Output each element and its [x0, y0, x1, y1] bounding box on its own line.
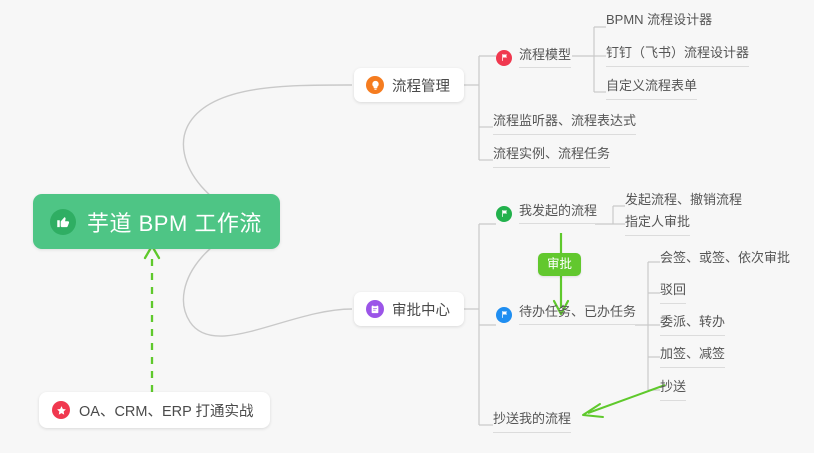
- arrow-cc-head: [583, 404, 603, 417]
- leaf-cc-to-me-process[interactable]: 抄送我的流程: [493, 411, 571, 433]
- leaf-assigned-approver[interactable]: 指定人审批: [625, 214, 690, 236]
- leaf-process-instance-task[interactable]: 流程实例、流程任务: [493, 146, 610, 168]
- arrow-cc-line: [588, 385, 665, 413]
- leaf-reject[interactable]: 驳回: [660, 282, 686, 304]
- node-todo-done-tasks[interactable]: 待办任务、已办任务: [496, 304, 636, 325]
- branch-node-process-management[interactable]: 流程管理: [354, 68, 464, 102]
- mindmap-canvas: 芋道 BPM 工作流 流程管理 流程模型 BPMN 流程设计器 钉钉（飞书）流程…: [0, 0, 814, 453]
- root-label: 芋道 BPM 工作流: [87, 206, 262, 238]
- node-todo-done-tasks-label: 待办任务、已办任务: [519, 304, 636, 325]
- branch-label-approval-center: 审批中心: [392, 299, 450, 320]
- leaf-process-listener-expression[interactable]: 流程监听器、流程表达式: [493, 113, 636, 135]
- callout-label-integration: OA、CRM、ERP 打通实战: [79, 400, 254, 421]
- flag-icon: [496, 206, 512, 222]
- leaf-countersign-orsign-sequential[interactable]: 会签、或签、依次审批: [660, 250, 790, 266]
- leaf-dingtalk-feishu-designer[interactable]: 钉钉（飞书）流程设计器: [606, 45, 749, 67]
- lightbulb-icon: [366, 76, 384, 94]
- node-process-model[interactable]: 流程模型: [496, 47, 571, 68]
- thumbs-up-icon: [50, 209, 76, 235]
- node-my-started-process-label: 我发起的流程: [519, 203, 597, 224]
- leaf-add-remove-sign[interactable]: 加签、减签: [660, 346, 725, 368]
- node-my-started-process[interactable]: 我发起的流程: [496, 203, 597, 224]
- callout-node-integration[interactable]: OA、CRM、ERP 打通实战: [39, 392, 270, 428]
- branch-node-approval-center[interactable]: 审批中心: [354, 292, 464, 326]
- star-icon: [52, 401, 70, 419]
- leaf-delegate-transfer[interactable]: 委派、转办: [660, 314, 725, 336]
- root-node[interactable]: 芋道 BPM 工作流: [33, 194, 280, 249]
- leaf-custom-process-form[interactable]: 自定义流程表单: [606, 78, 697, 100]
- tag-approve[interactable]: 审批: [538, 253, 581, 276]
- leaf-start-cancel-process[interactable]: 发起流程、撤销流程: [625, 192, 742, 208]
- clipboard-icon: [366, 300, 384, 318]
- node-process-model-label: 流程模型: [519, 47, 571, 68]
- leaf-bpmn-designer[interactable]: BPMN 流程设计器: [606, 12, 712, 28]
- flag-icon: [496, 307, 512, 323]
- branch-label-process-management: 流程管理: [392, 75, 450, 96]
- flag-icon: [496, 50, 512, 66]
- leaf-cc[interactable]: 抄送: [660, 379, 686, 401]
